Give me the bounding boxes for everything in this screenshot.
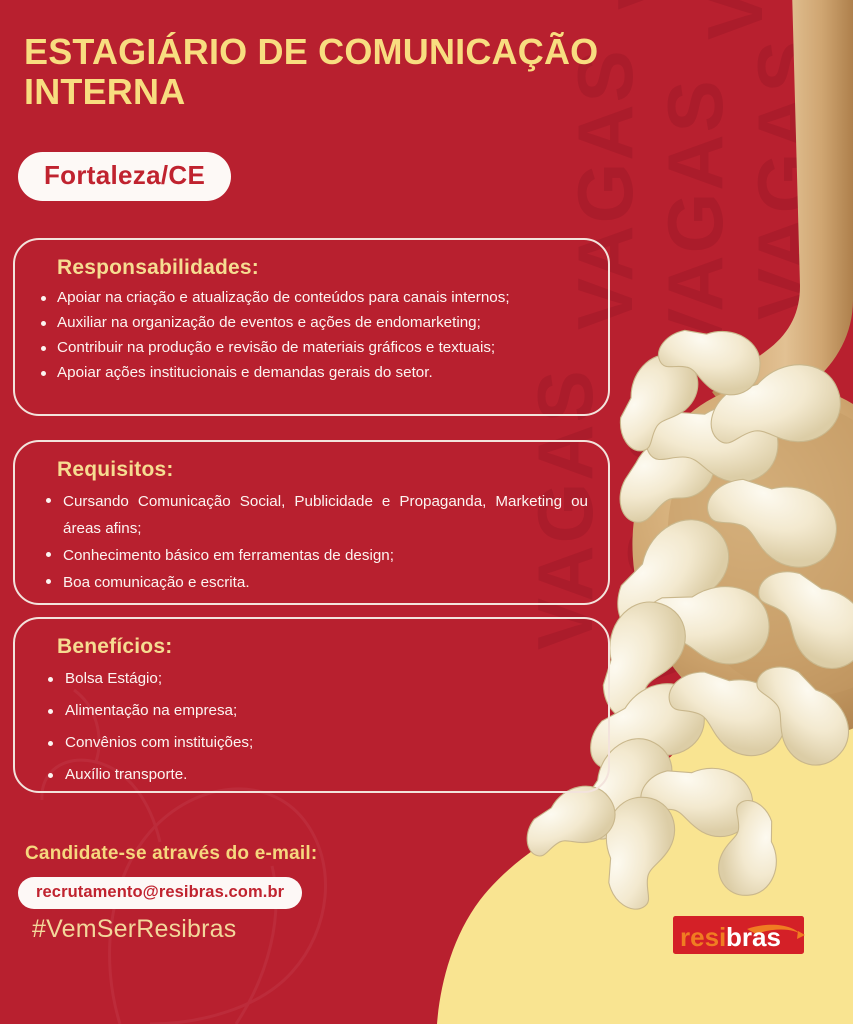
list-item: Cursando Comunicação Social, Publicidade… [35,488,588,542]
benefits-card: Benefícios: Bolsa Estágio; Alimentação n… [13,617,610,793]
requirements-card: Requisitos: Cursando Comunicação Social,… [13,440,610,605]
requirements-list: Cursando Comunicação Social, Publicidade… [35,488,588,596]
list-item: Auxílio transporte. [35,763,588,786]
list-item: Alimentação na empresa; [35,699,588,722]
resibras-logo: resi bras [672,912,805,958]
list-item: Bolsa Estágio; [35,667,588,690]
list-item: Boa comunicação e escrita. [35,569,588,596]
list-item: Apoiar na criação e atualização de conte… [35,286,588,310]
benefits-list: Bolsa Estágio; Alimentação na empresa; C… [35,667,588,786]
list-item: Apoiar ações institucionais e demandas g… [35,361,588,385]
benefits-heading: Benefícios: [57,635,588,659]
list-item: Convênios com instituições; [35,731,588,754]
page-title: ESTAGIÁRIO DE COMUNICAÇÃO INTERNA [24,32,624,113]
list-item: Contribuir na produção e revisão de mate… [35,336,588,360]
job-posting-poster: VAGAS VAGAS VAGAS VAGAS VAGAS VAGAS VAGA… [0,0,853,1024]
hashtag-text: #VemSerResibras [32,915,236,944]
apply-call-to-action: Candidate-se através do e-mail: [25,843,317,865]
location-badge: Fortaleza/CE [18,152,231,201]
list-item: Conhecimento básico em ferramentas de de… [35,542,588,569]
responsibilities-card: Responsabilidades: Apoiar na criação e a… [13,238,610,416]
list-item: Auxiliar na organização de eventos e açõ… [35,311,588,335]
responsibilities-heading: Responsabilidades: [57,256,588,280]
requirements-heading: Requisitos: [57,458,588,482]
contact-email-badge[interactable]: recrutamento@resibras.com.br [18,877,302,909]
responsibilities-list: Apoiar na criação e atualização de conte… [35,286,588,385]
logo-text-resi: resi [680,922,726,952]
logo-text-bras: bras [726,922,781,952]
